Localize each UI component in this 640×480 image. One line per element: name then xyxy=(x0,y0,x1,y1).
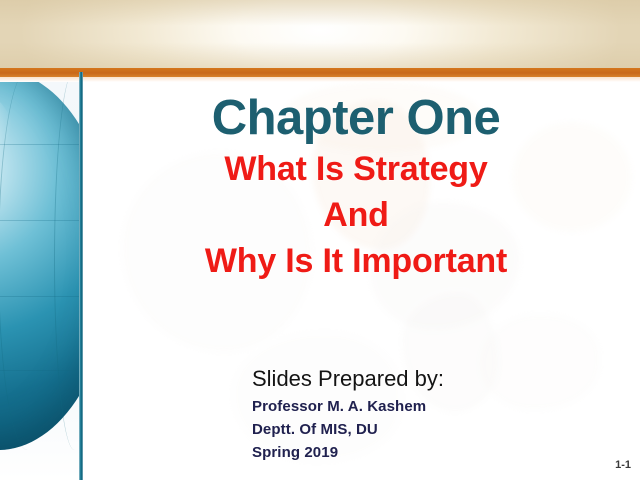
subtitle-line-3: Why Is It Important xyxy=(82,241,630,281)
globe-icon xyxy=(0,82,80,450)
credits-block: Slides Prepared by: Professor M. A. Kash… xyxy=(252,366,592,464)
chapter-title: Chapter One xyxy=(82,94,630,143)
credits-author: Professor M. A. Kashem xyxy=(252,396,592,419)
subtitle-line-1: What Is Strategy xyxy=(82,149,630,189)
header-band-sheen xyxy=(0,0,640,68)
subtitle-line-2: And xyxy=(82,195,630,235)
globe-panel xyxy=(0,82,80,480)
page-number: 1-1 xyxy=(615,459,631,471)
credits-term: Spring 2019 xyxy=(252,442,592,465)
header-orange-rule xyxy=(0,68,640,77)
credits-department: Deptt. Of MIS, DU xyxy=(252,419,592,442)
credits-lead: Slides Prepared by: xyxy=(252,366,592,392)
title-block: Chapter One What Is Strategy And Why Is … xyxy=(82,94,630,281)
presentation-slide: Chapter One What Is Strategy And Why Is … xyxy=(0,0,640,480)
